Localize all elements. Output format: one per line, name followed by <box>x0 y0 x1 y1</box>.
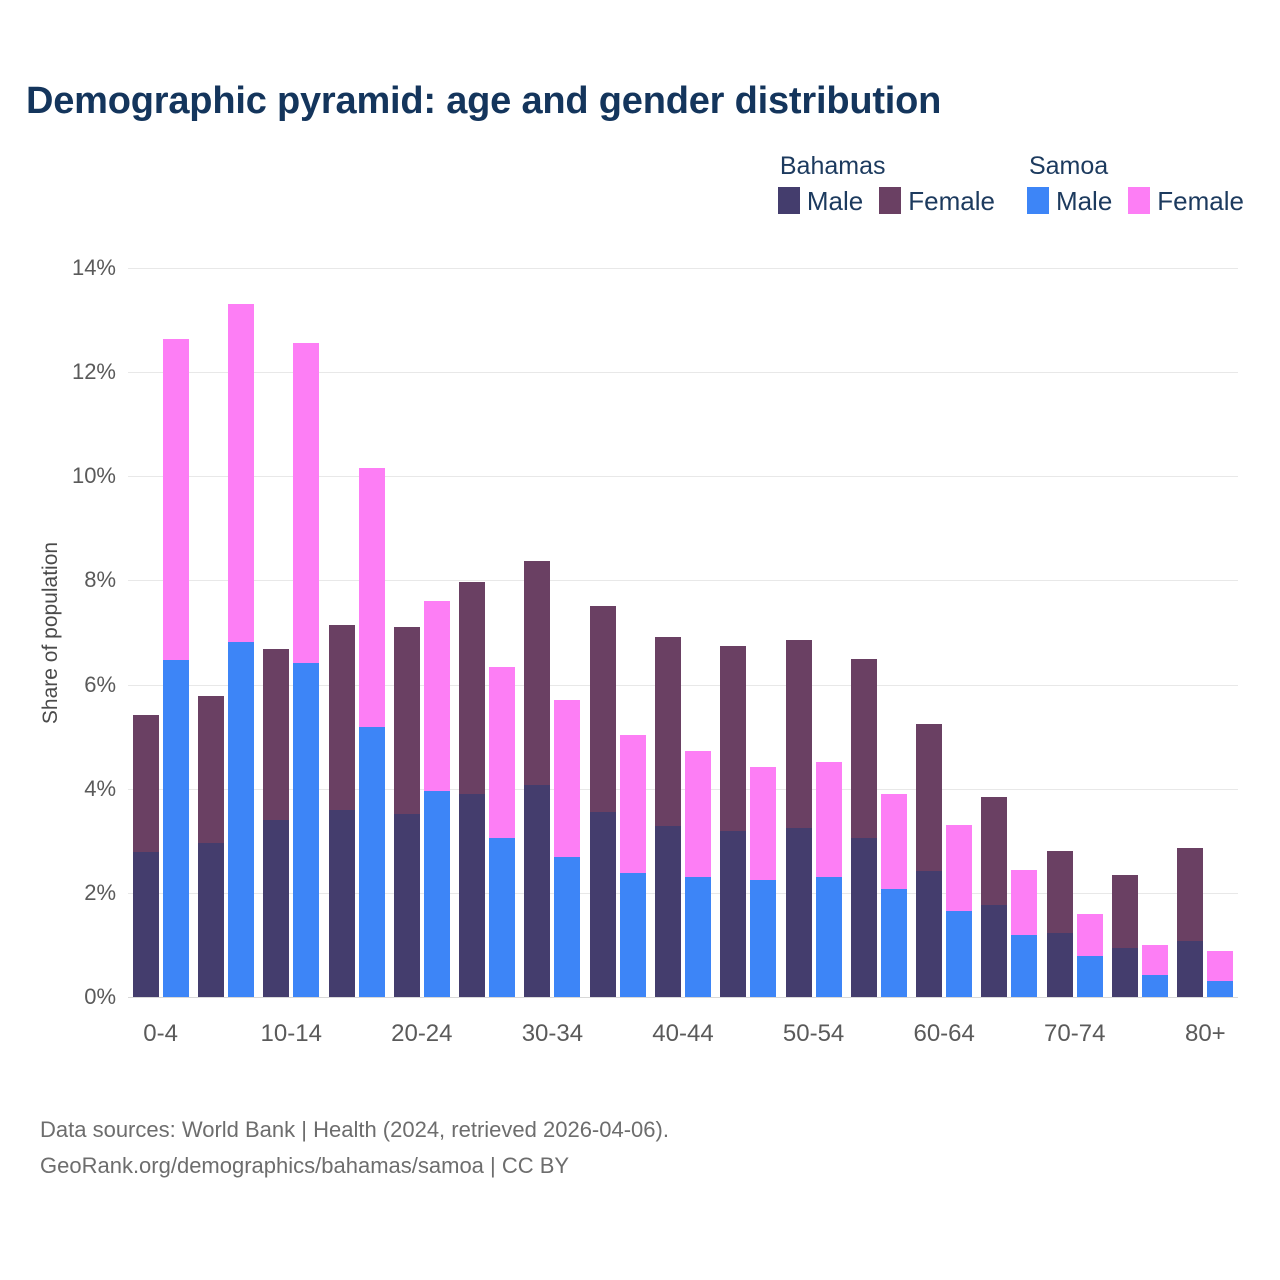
y-axis-tick-12%: 12% <box>26 359 116 385</box>
segment-bahamas-female-45-49[interactable] <box>720 646 746 831</box>
segment-bahamas-male-25-29[interactable] <box>459 794 485 997</box>
bar-bahamas-20-24[interactable] <box>394 627 420 997</box>
segment-bahamas-female-15-19[interactable] <box>329 625 355 810</box>
segment-bahamas-female-65-69[interactable] <box>981 797 1007 905</box>
x-axis-tick-60-64: 60-64 <box>913 1020 974 1048</box>
segment-samoa-male-75-79[interactable] <box>1142 975 1168 997</box>
legend-swatch-samoa-female <box>1128 187 1150 214</box>
legend-item-samoa-male[interactable]: Male <box>1027 187 1112 214</box>
segment-samoa-male-65-69[interactable] <box>1011 935 1037 997</box>
segment-bahamas-male-80+[interactable] <box>1177 941 1203 997</box>
legend-item-bahamas-female[interactable]: Female <box>879 187 995 214</box>
bar-group-15-19 <box>329 268 385 997</box>
segment-bahamas-female-40-44[interactable] <box>655 637 681 826</box>
y-axis-tick-2%: 2% <box>26 880 116 906</box>
segment-samoa-female-45-49[interactable] <box>750 767 776 880</box>
segment-bahamas-female-20-24[interactable] <box>394 627 420 813</box>
bar-samoa-15-19[interactable] <box>359 468 385 997</box>
x-axis-labels: 0-410-1420-2430-3440-4450-5460-6470-7480… <box>128 1020 1238 1060</box>
x-axis-tick-80+: 80+ <box>1185 1020 1226 1048</box>
segment-bahamas-female-0-4[interactable] <box>133 715 159 852</box>
legend-items-samoa: Male Female <box>1027 187 1244 214</box>
bar-samoa-0-4[interactable] <box>163 339 189 997</box>
bar-samoa-20-24[interactable] <box>424 601 450 997</box>
bar-bahamas-5-9[interactable] <box>198 696 224 997</box>
bar-group-75-79 <box>1112 268 1168 997</box>
segment-samoa-male-40-44[interactable] <box>685 877 711 997</box>
bar-bahamas-55-59[interactable] <box>851 659 877 997</box>
segment-samoa-female-70-74[interactable] <box>1077 914 1103 957</box>
y-axis-tick-6%: 6% <box>26 672 116 698</box>
segment-samoa-female-80+[interactable] <box>1207 951 1233 981</box>
bar-samoa-75-79[interactable] <box>1142 945 1168 997</box>
segment-bahamas-female-60-64[interactable] <box>916 724 942 871</box>
bar-group-25-29 <box>459 268 515 997</box>
segment-samoa-male-5-9[interactable] <box>228 642 254 997</box>
legend-label-samoa-male: Male <box>1056 188 1112 214</box>
segment-samoa-female-60-64[interactable] <box>946 825 972 911</box>
bar-group-45-49 <box>720 268 776 997</box>
legend-label-bahamas-female: Female <box>908 188 995 214</box>
y-axis-tick-10%: 10% <box>26 463 116 489</box>
bar-group-0-4 <box>133 268 189 997</box>
segment-samoa-male-30-34[interactable] <box>554 857 580 997</box>
segment-bahamas-male-10-14[interactable] <box>263 820 289 997</box>
bar-group-80+ <box>1177 268 1233 997</box>
bar-samoa-70-74[interactable] <box>1077 914 1103 997</box>
legend-group-title-bahamas: Bahamas <box>778 152 995 181</box>
segment-samoa-male-50-54[interactable] <box>816 877 842 997</box>
y-axis-tick-14%: 14% <box>26 255 116 281</box>
segment-bahamas-female-55-59[interactable] <box>851 659 877 838</box>
segment-samoa-female-55-59[interactable] <box>881 794 907 889</box>
segment-bahamas-male-50-54[interactable] <box>786 828 812 997</box>
segment-bahamas-male-55-59[interactable] <box>851 838 877 997</box>
bar-samoa-60-64[interactable] <box>946 825 972 997</box>
segment-samoa-female-35-39[interactable] <box>620 735 646 874</box>
segment-bahamas-male-35-39[interactable] <box>590 812 616 997</box>
page-title: Demographic pyramid: age and gender dist… <box>26 80 941 123</box>
segment-samoa-male-25-29[interactable] <box>489 838 515 997</box>
x-axis-tick-10-14: 10-14 <box>261 1020 322 1048</box>
bar-bahamas-65-69[interactable] <box>981 797 1007 997</box>
segment-bahamas-male-60-64[interactable] <box>916 871 942 997</box>
bar-samoa-50-54[interactable] <box>816 762 842 997</box>
bar-bahamas-75-79[interactable] <box>1112 875 1138 997</box>
segment-samoa-male-60-64[interactable] <box>946 911 972 997</box>
bar-samoa-55-59[interactable] <box>881 794 907 997</box>
legend-swatch-bahamas-female <box>879 187 901 214</box>
segment-samoa-male-0-4[interactable] <box>163 660 189 997</box>
segment-bahamas-male-70-74[interactable] <box>1047 933 1073 997</box>
segment-samoa-male-10-14[interactable] <box>293 663 319 997</box>
bar-group-55-59 <box>851 268 907 997</box>
bar-bahamas-0-4[interactable] <box>133 715 159 997</box>
segment-bahamas-female-80+[interactable] <box>1177 848 1203 941</box>
legend-label-bahamas-male: Male <box>807 188 863 214</box>
bar-group-35-39 <box>590 268 646 997</box>
segment-samoa-female-40-44[interactable] <box>685 751 711 877</box>
legend-group-samoa: Samoa Male Female <box>1027 152 1244 214</box>
bar-group-30-34 <box>524 268 580 997</box>
segment-bahamas-male-20-24[interactable] <box>394 814 420 997</box>
bar-bahamas-60-64[interactable] <box>916 724 942 997</box>
y-axis-tick-4%: 4% <box>26 776 116 802</box>
bar-group-40-44 <box>655 268 711 997</box>
bar-samoa-80+[interactable] <box>1207 951 1233 997</box>
segment-samoa-male-55-59[interactable] <box>881 889 907 997</box>
segment-bahamas-male-40-44[interactable] <box>655 826 681 997</box>
bar-group-65-69 <box>981 268 1037 997</box>
x-axis-tick-40-44: 40-44 <box>652 1020 713 1048</box>
segment-samoa-female-0-4[interactable] <box>163 339 189 660</box>
x-axis-tick-30-34: 30-34 <box>522 1020 583 1048</box>
segment-bahamas-female-10-14[interactable] <box>263 649 289 820</box>
bar-samoa-10-14[interactable] <box>293 343 319 997</box>
segment-samoa-female-20-24[interactable] <box>424 601 450 791</box>
segment-bahamas-female-35-39[interactable] <box>590 606 616 812</box>
legend-group-bahamas: Bahamas Male Female <box>778 152 995 214</box>
bar-bahamas-80+[interactable] <box>1177 848 1203 997</box>
bar-samoa-30-34[interactable] <box>554 700 580 997</box>
bars-layer <box>128 268 1238 997</box>
segment-samoa-female-25-29[interactable] <box>489 667 515 838</box>
bar-bahamas-25-29[interactable] <box>459 582 485 997</box>
segment-samoa-female-10-14[interactable] <box>293 343 319 663</box>
segment-bahamas-male-5-9[interactable] <box>198 843 224 997</box>
bar-bahamas-35-39[interactable] <box>590 606 616 997</box>
segment-bahamas-female-5-9[interactable] <box>198 696 224 843</box>
bar-bahamas-10-14[interactable] <box>263 649 289 997</box>
bar-samoa-40-44[interactable] <box>685 751 711 997</box>
plot-area: 0%2%4%6%8%10%12%14% <box>128 268 1238 997</box>
bar-samoa-65-69[interactable] <box>1011 870 1037 997</box>
bar-samoa-35-39[interactable] <box>620 735 646 997</box>
y-axis-tick-0%: 0% <box>26 984 116 1010</box>
segment-samoa-female-65-69[interactable] <box>1011 870 1037 935</box>
segment-bahamas-male-0-4[interactable] <box>133 852 159 997</box>
segment-bahamas-male-15-19[interactable] <box>329 810 355 997</box>
legend-item-samoa-female[interactable]: Female <box>1128 187 1244 214</box>
bar-bahamas-50-54[interactable] <box>786 640 812 997</box>
legend-label-samoa-female: Female <box>1157 188 1244 214</box>
footer: Data sources: World Bank | Health (2024,… <box>40 1112 669 1185</box>
bar-bahamas-70-74[interactable] <box>1047 851 1073 997</box>
chart-legend: Bahamas Male Female Samoa <box>778 152 1244 214</box>
bar-group-50-54 <box>786 268 842 997</box>
chart-page: Demographic pyramid: age and gender dist… <box>0 0 1280 1280</box>
x-axis-tick-50-54: 50-54 <box>783 1020 844 1048</box>
bar-bahamas-45-49[interactable] <box>720 646 746 997</box>
segment-bahamas-female-70-74[interactable] <box>1047 851 1073 933</box>
gridline-0% <box>128 997 1238 998</box>
bar-samoa-5-9[interactable] <box>228 304 254 997</box>
legend-swatch-bahamas-male <box>778 187 800 214</box>
legend-item-bahamas-male[interactable]: Male <box>778 187 863 214</box>
bar-group-10-14 <box>263 268 319 997</box>
segment-bahamas-female-30-34[interactable] <box>524 561 550 785</box>
legend-swatch-samoa-male <box>1027 187 1049 214</box>
segment-samoa-female-15-19[interactable] <box>359 468 385 727</box>
segment-bahamas-male-65-69[interactable] <box>981 905 1007 997</box>
bar-group-5-9 <box>198 268 254 997</box>
y-axis-tick-8%: 8% <box>26 567 116 593</box>
bar-samoa-25-29[interactable] <box>489 667 515 997</box>
segment-samoa-female-5-9[interactable] <box>228 304 254 641</box>
segment-bahamas-male-45-49[interactable] <box>720 831 746 997</box>
legend-groups: Bahamas Male Female Samoa <box>778 152 1244 214</box>
x-axis-tick-20-24: 20-24 <box>391 1020 452 1048</box>
segment-bahamas-female-50-54[interactable] <box>786 640 812 827</box>
bar-group-60-64 <box>916 268 972 997</box>
segment-samoa-male-15-19[interactable] <box>359 727 385 997</box>
x-axis-tick-70-74: 70-74 <box>1044 1020 1105 1048</box>
legend-group-title-samoa: Samoa <box>1027 152 1244 181</box>
x-axis-tick-0-4: 0-4 <box>143 1020 178 1048</box>
bar-bahamas-30-34[interactable] <box>524 561 550 997</box>
segment-samoa-female-50-54[interactable] <box>816 762 842 878</box>
segment-bahamas-male-75-79[interactable] <box>1112 948 1138 997</box>
footer-line-1: Data sources: World Bank | Health (2024,… <box>40 1112 669 1148</box>
segment-samoa-male-70-74[interactable] <box>1077 956 1103 997</box>
segment-samoa-female-30-34[interactable] <box>554 700 580 857</box>
bar-group-70-74 <box>1047 268 1103 997</box>
bar-group-20-24 <box>394 268 450 997</box>
segment-bahamas-female-75-79[interactable] <box>1112 875 1138 948</box>
segment-samoa-female-75-79[interactable] <box>1142 945 1168 975</box>
segment-samoa-male-45-49[interactable] <box>750 880 776 997</box>
segment-samoa-male-20-24[interactable] <box>424 791 450 997</box>
bar-samoa-45-49[interactable] <box>750 767 776 997</box>
segment-bahamas-male-30-34[interactable] <box>524 785 550 997</box>
segment-samoa-male-35-39[interactable] <box>620 873 646 997</box>
segment-samoa-male-80+[interactable] <box>1207 981 1233 997</box>
bar-bahamas-40-44[interactable] <box>655 637 681 997</box>
segment-bahamas-female-25-29[interactable] <box>459 582 485 794</box>
footer-line-2: GeoRank.org/demographics/bahamas/samoa |… <box>40 1148 669 1184</box>
legend-items-bahamas: Male Female <box>778 187 995 214</box>
bar-bahamas-15-19[interactable] <box>329 625 355 997</box>
